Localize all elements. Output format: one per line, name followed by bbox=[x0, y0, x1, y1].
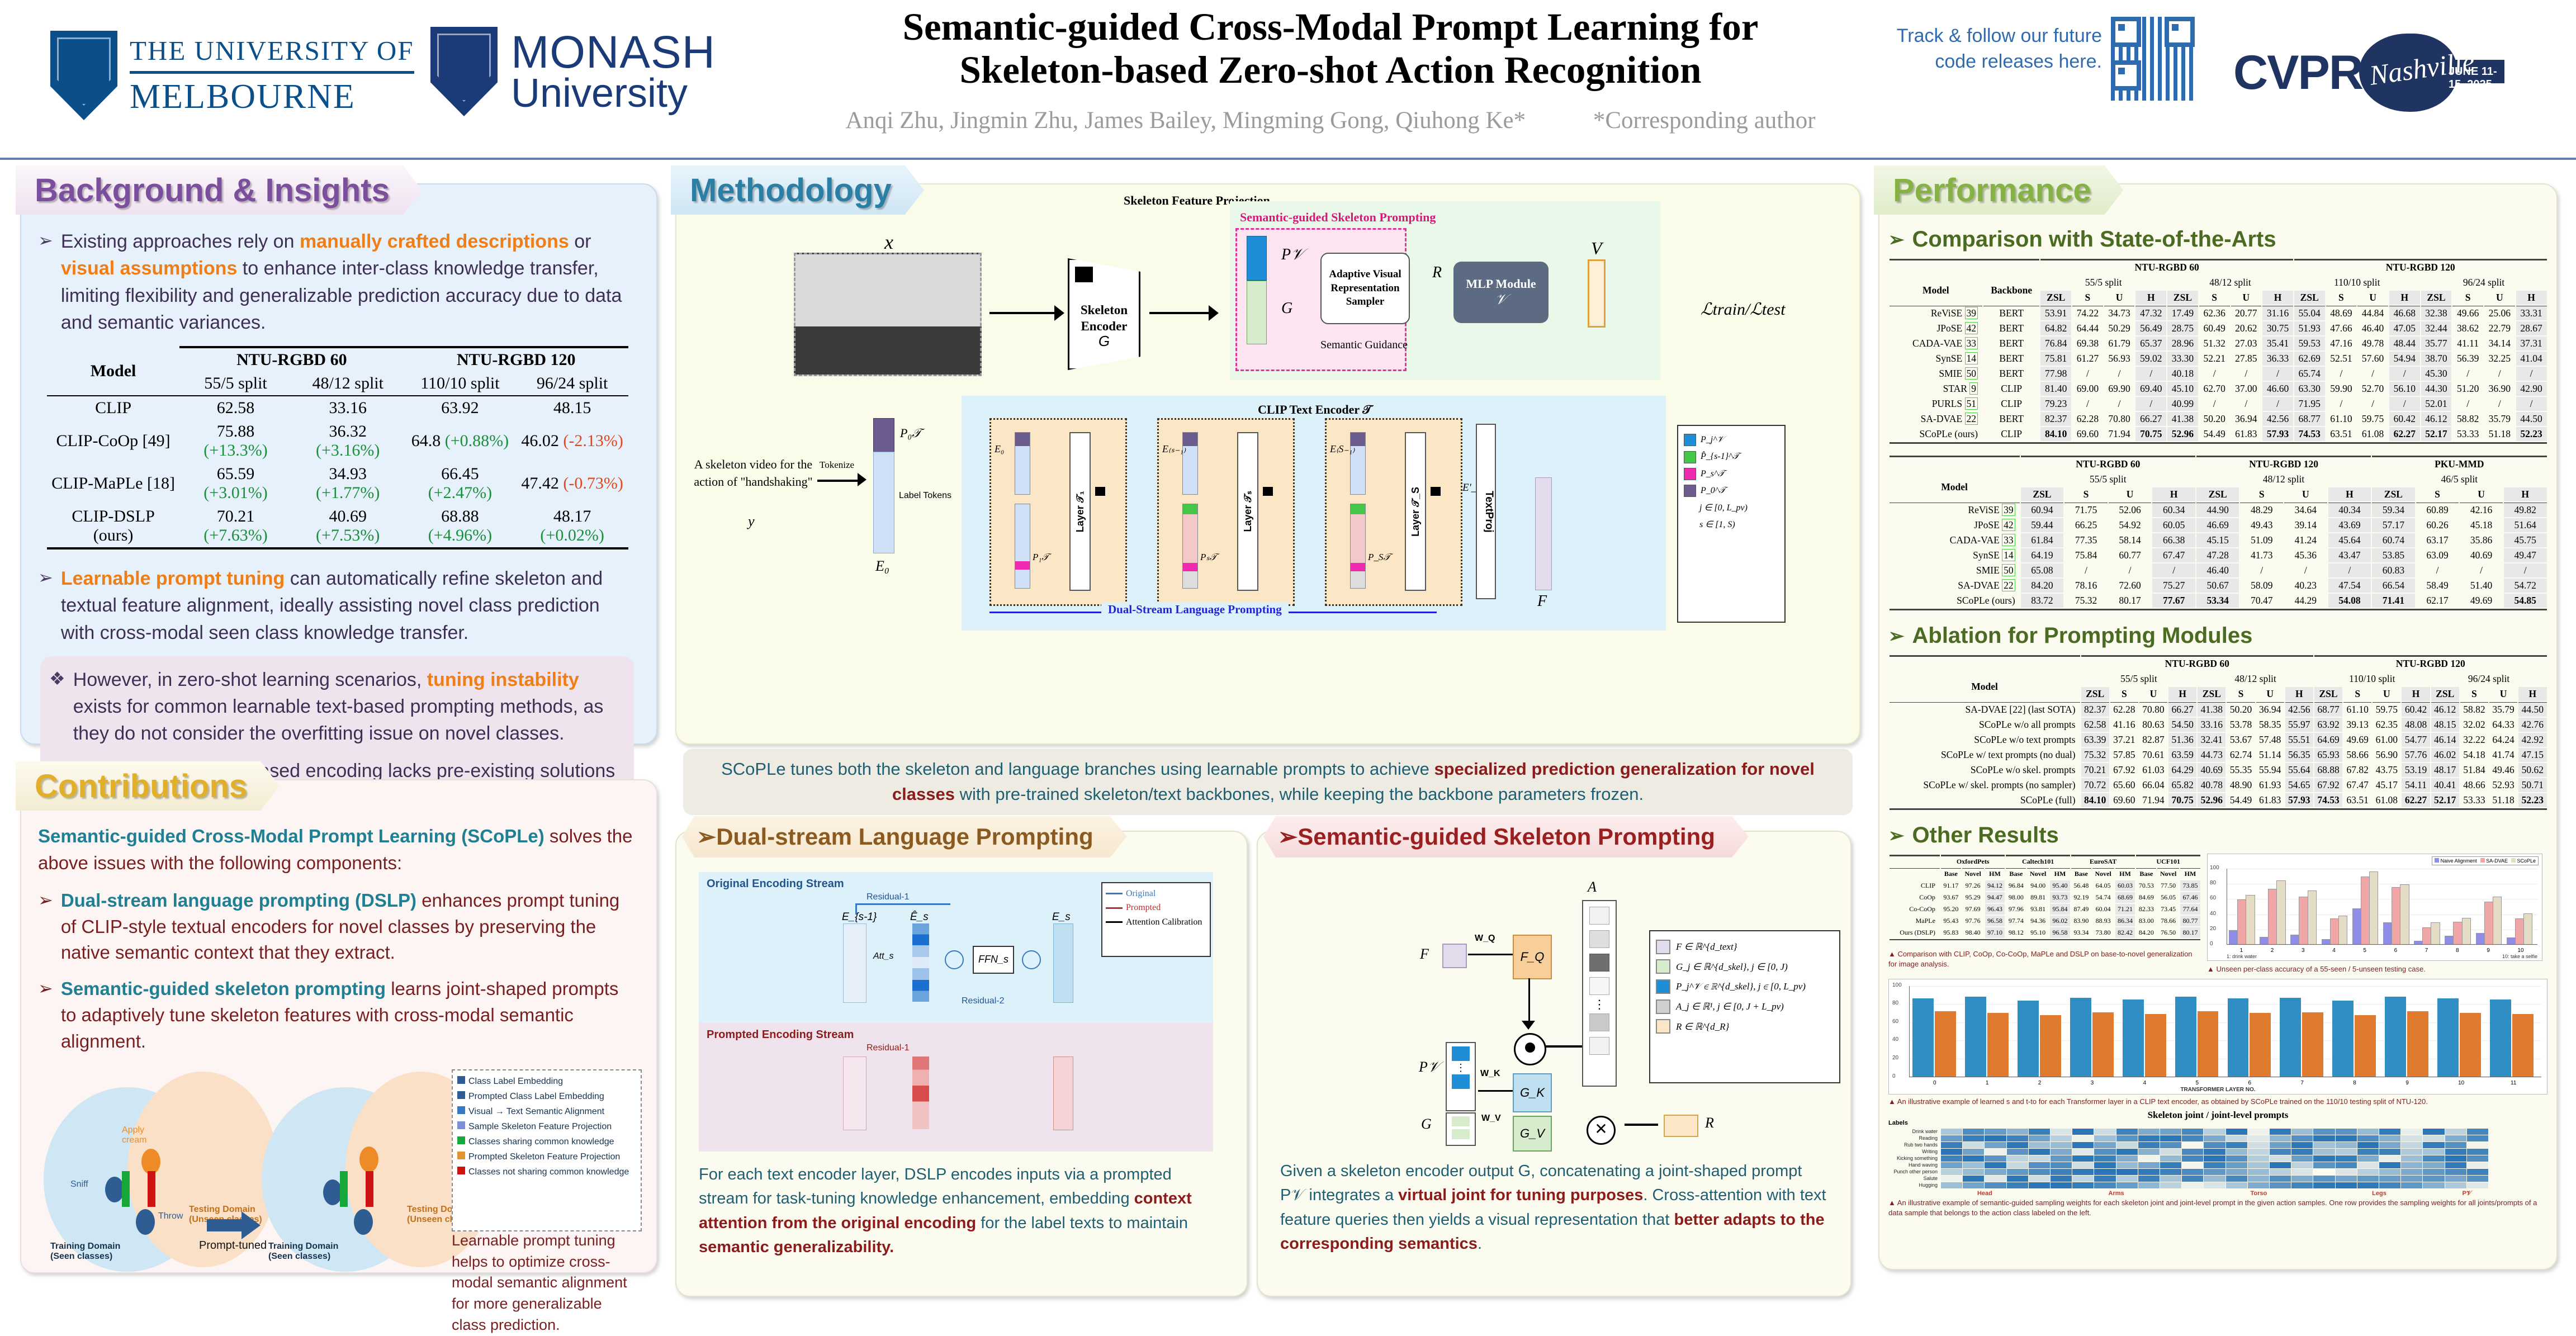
table-row: SMIE 5065.08///46.40///60.83/// bbox=[1890, 563, 2547, 577]
legend-item: Attention Calibration bbox=[1106, 915, 1206, 930]
label-tokens bbox=[873, 452, 894, 553]
table-cell: 34.73 bbox=[2104, 306, 2135, 320]
author-list: Anqi Zhu, Jingmin Zhu, James Bailey, Min… bbox=[771, 107, 1890, 134]
citation-ref: 33 bbox=[1965, 337, 1978, 349]
table-cell: 52.70 bbox=[2357, 382, 2388, 396]
th-model: Model bbox=[47, 347, 179, 396]
table-group-row: NTU-RGBD 60NTU-RGBD 120PKU-MMD bbox=[1890, 456, 2547, 471]
table-cell: 66.54 bbox=[2372, 579, 2415, 593]
table-cell: 75.32 bbox=[2064, 594, 2108, 608]
gridline bbox=[2227, 945, 2537, 945]
wv-label: W_V bbox=[1481, 1114, 1501, 1124]
heatmap-group-label: Head bbox=[1941, 1190, 2029, 1197]
heatmap-cell bbox=[2445, 1176, 2466, 1182]
table-cell: 64.29 bbox=[2168, 763, 2196, 777]
perf-table: NTU-RGBD 60NTU-RGBD 120PKU-MMDModel55/5 … bbox=[1888, 454, 2548, 615]
table-cell: 82.37 bbox=[2040, 412, 2071, 426]
table-cell: 58.35 bbox=[2256, 718, 2284, 732]
heatmap-cell bbox=[2248, 1149, 2269, 1155]
row-model: Ours (DSLP) bbox=[1890, 927, 1940, 938]
legend-arrow-icon bbox=[1106, 921, 1123, 923]
table-cell: 75.84 bbox=[2064, 548, 2108, 562]
table-cell: 83.90 bbox=[2071, 916, 2091, 926]
heatmap-cell bbox=[2029, 1182, 2050, 1188]
heatmap-row-label: Rub two hands bbox=[1888, 1142, 1938, 1148]
layer-in-vector bbox=[1350, 432, 1366, 495]
table-cell: 49.47 bbox=[2504, 548, 2547, 562]
table-cell: 41.74 bbox=[2489, 748, 2517, 762]
table-cell: 77.50 bbox=[2157, 880, 2179, 891]
table-cell: 61.83 bbox=[2256, 793, 2284, 807]
section-comparison: ➢ Comparison with State-of-the-Arts bbox=[1888, 227, 2556, 252]
other-bar-chart-wrap: 02040608010012345678910 Naive Alignment … bbox=[2207, 854, 2542, 974]
row-backbone: CLIP bbox=[1983, 397, 2039, 411]
b1-hl1: manually crafted descriptions bbox=[300, 231, 569, 252]
th-group1: NTU-RGBD 60 bbox=[179, 347, 404, 372]
heatmap-cell bbox=[2094, 1135, 2115, 1141]
prompted-stream-label: Prompted Encoding Stream bbox=[707, 1029, 854, 1041]
melbourne-rule bbox=[130, 71, 414, 74]
metric-header: ZSL bbox=[2021, 487, 2064, 501]
heatmap-cell bbox=[2467, 1155, 2488, 1162]
row-model: CLIP-DSLP (ours) bbox=[47, 505, 179, 548]
qr-caption-line2: code releases here. bbox=[1867, 49, 2102, 75]
heatmap-cell bbox=[2226, 1155, 2247, 1162]
metric-header: H bbox=[2504, 487, 2547, 501]
heatmap-cell bbox=[2072, 1162, 2094, 1168]
bar bbox=[2515, 918, 2524, 945]
table-cell: 97.96 bbox=[2006, 904, 2026, 915]
table-cell: 40.69 bbox=[2460, 548, 2503, 562]
metric-header: S bbox=[2460, 687, 2488, 701]
x-tick-label: 6 bbox=[2394, 947, 2398, 954]
chevron-right-icon: ➢ bbox=[38, 228, 53, 336]
table-cell: 60.49 bbox=[2199, 321, 2230, 335]
logo-monash-university: MONASH University bbox=[430, 27, 716, 116]
table-cell: 69.40 bbox=[2135, 382, 2166, 396]
heatmap-cell bbox=[2313, 1149, 2334, 1155]
panel-dslp: ➢Dual-stream Language Prompting Original… bbox=[675, 831, 1248, 1297]
metric-header: Novel bbox=[1962, 868, 1984, 879]
table-cell: 78.16 bbox=[2064, 579, 2108, 593]
col-backbone: Backbone bbox=[1983, 276, 2039, 305]
heatmap-cell bbox=[2029, 1162, 2050, 1168]
heatmap-cell bbox=[2379, 1129, 2400, 1135]
heatmap-cell bbox=[2291, 1162, 2313, 1168]
training-domain-label-1: Training Domain (Seen classes) bbox=[50, 1242, 120, 1262]
contribution-item-dslp: ➢ Dual-stream language prompting (DSLP) … bbox=[38, 888, 637, 967]
group-header: NTU-RGBD 120 bbox=[2196, 456, 2371, 471]
x-tick-label: 4 bbox=[2332, 947, 2336, 954]
heatmap-cell bbox=[2116, 1176, 2138, 1182]
table-cell: 77.67 bbox=[2152, 594, 2195, 608]
table-cell: 62.27 bbox=[2402, 793, 2430, 807]
table-cell: 65.93 bbox=[2314, 748, 2342, 762]
table-cell: 35.79 bbox=[2489, 702, 2517, 717]
heatmap-cell bbox=[2138, 1155, 2160, 1162]
legend-swatch bbox=[1656, 959, 1670, 974]
table-cell: 84.20 bbox=[2021, 579, 2064, 593]
lock-icon bbox=[1095, 487, 1105, 496]
legend-label: P_s^𝒯 bbox=[1701, 466, 1725, 482]
add-node-2 bbox=[1022, 950, 1041, 969]
b2-hl: Learnable prompt tuning bbox=[61, 568, 285, 589]
legend-item: Class Label Embedding bbox=[457, 1075, 636, 1088]
table-cell: 53.34 bbox=[2196, 594, 2239, 608]
table-cell: 67.82 bbox=[2343, 763, 2371, 777]
table-cell: 61.27 bbox=[2072, 352, 2103, 366]
dslp-caption: For each text encoder layer, DSLP encode… bbox=[699, 1163, 1213, 1260]
table-cell: 44.29 bbox=[2284, 594, 2327, 608]
banner-label-background: Background & Insights bbox=[35, 172, 390, 209]
table-bottom-rule bbox=[1890, 808, 2547, 814]
table-cell: 34.64 bbox=[2284, 503, 2327, 517]
citation-ref: 39 bbox=[1965, 307, 1978, 319]
bar bbox=[1912, 998, 1934, 1077]
table-cell: / bbox=[2135, 397, 2166, 411]
g-token-block bbox=[1247, 281, 1267, 344]
table-cell: 82.33 bbox=[2136, 904, 2156, 915]
table-cell: 59.53 bbox=[2294, 337, 2325, 350]
table-bottom-rule bbox=[1890, 939, 2200, 942]
legend-swatch bbox=[457, 1167, 465, 1174]
bar bbox=[2246, 895, 2255, 945]
heatmap-cell bbox=[2182, 1155, 2203, 1162]
table-cell: 66.45 (+2.47%) bbox=[404, 462, 517, 505]
table-cell: 46.69 bbox=[2196, 518, 2239, 532]
skeleton-encoder-symbol: G bbox=[1069, 333, 1139, 350]
table-row: Co-CoOp95.2097.6996.4397.9693.8195.8487.… bbox=[1890, 904, 2200, 915]
legend-label: Class Label Embedding bbox=[468, 1075, 563, 1088]
legend-label: s ∈ [1, S) bbox=[1699, 517, 1735, 533]
legend-arrow-icon bbox=[1106, 893, 1123, 894]
table-cell: 68.77 bbox=[2314, 702, 2342, 717]
b3-hl: tuning instability bbox=[427, 669, 579, 690]
table-cell: 61.08 bbox=[2373, 793, 2400, 807]
table-cell: 33.30 bbox=[2167, 352, 2198, 366]
heatmap-cell bbox=[2270, 1169, 2291, 1175]
table-cell: 20.62 bbox=[2231, 321, 2262, 335]
bar bbox=[2407, 1011, 2428, 1077]
layer-prompt-label: Pₛ𝒯 bbox=[1200, 552, 1217, 563]
contributions-intro: Semantic-guided Cross-Modal Prompt Learn… bbox=[38, 823, 637, 877]
group-header: OxfordPets bbox=[1941, 855, 2005, 867]
table-cell: / bbox=[2357, 397, 2388, 411]
legend-label: P_0^𝒯 bbox=[1701, 482, 1726, 499]
table-cell: 52.23 bbox=[2518, 793, 2546, 807]
table-cell: 64.33 bbox=[2489, 718, 2517, 732]
section-other-label: Other Results bbox=[1912, 823, 2059, 848]
qr-block[interactable]: Track & follow our future code releases … bbox=[1867, 17, 2195, 101]
table-cell: 94.12 bbox=[1985, 880, 2005, 891]
triangle-icon: ▲ bbox=[1888, 1097, 1896, 1106]
metric-header: S bbox=[2199, 291, 2230, 305]
table-cell: 96.43 bbox=[1985, 904, 2005, 915]
table-cell: 62.58 bbox=[179, 396, 292, 420]
table-cell: 47.15 bbox=[2518, 748, 2546, 762]
prompted-mid-vector bbox=[912, 1057, 929, 1129]
bar bbox=[2476, 933, 2485, 945]
row-backbone: CLIP bbox=[1983, 427, 2039, 441]
arrow-head-icon bbox=[858, 473, 866, 486]
layer-prompt-label: P₁𝒯 bbox=[1033, 552, 1049, 563]
table-cell: 35.41 bbox=[2262, 337, 2293, 350]
heatmap-cell bbox=[2423, 1142, 2444, 1148]
split-header: 55/5 split bbox=[2040, 276, 2166, 290]
metric-header: Novel bbox=[2027, 868, 2049, 879]
table-cell: 62.27 bbox=[2389, 427, 2420, 441]
table-cell: 71.21 bbox=[2115, 904, 2135, 915]
legend-item: Prompted bbox=[1106, 901, 1206, 915]
table-cell: 46.40 bbox=[2357, 321, 2388, 335]
table-cell: 97.26 bbox=[1962, 880, 1984, 891]
heatmap-cell bbox=[2029, 1142, 2050, 1148]
table-cell: 67.46 bbox=[2180, 892, 2200, 903]
table-cell: 74.53 bbox=[2314, 793, 2342, 807]
table-row: CLIP-DSLP (ours)70.21 (+7.63%)40.69 (+7.… bbox=[47, 505, 628, 548]
table-cell: 76.84 bbox=[2040, 337, 2071, 350]
table-cell: 67.47 bbox=[2343, 778, 2371, 792]
heatmap-cell bbox=[2138, 1135, 2160, 1141]
table-cell: 60.05 bbox=[2152, 518, 2195, 532]
table-cell: 65.74 bbox=[2294, 367, 2325, 381]
table-cell: 63.92 bbox=[2314, 718, 2342, 732]
table-cell: 51.18 bbox=[2484, 427, 2515, 441]
table-cell: 48.08 bbox=[2402, 718, 2430, 732]
row-model: PURLS 51 bbox=[1890, 397, 1983, 411]
table-cell: 46.02 bbox=[2431, 748, 2459, 762]
table-row: SA-DVAE [22] (last SOTA)82.3762.2870.806… bbox=[1890, 702, 2547, 717]
legend-swatch bbox=[2435, 858, 2439, 863]
legend-item: P̂_{s-1}^𝒯 bbox=[1684, 448, 1779, 465]
arrow-head-icon bbox=[1209, 305, 1219, 321]
table-cell: 36.94 bbox=[2256, 702, 2284, 717]
y-tick-label: 100 bbox=[2210, 865, 2219, 871]
table-cell: 51.18 bbox=[2489, 793, 2517, 807]
table-cell: 92.19 bbox=[2071, 892, 2091, 903]
heatmap-cell bbox=[2051, 1169, 2072, 1175]
table-row: ReViSE 39BERT53.9174.2234.7347.3217.4962… bbox=[1890, 306, 2547, 320]
table-cell: 42.56 bbox=[2285, 702, 2313, 717]
table-cell: 48.29 bbox=[2240, 503, 2283, 517]
table-cell: 59.44 bbox=[2021, 518, 2064, 532]
bullet-item: ➢ Existing approaches rely on manually c… bbox=[38, 228, 637, 336]
bar bbox=[2484, 902, 2493, 945]
heatmap-cell bbox=[2336, 1176, 2357, 1182]
table-cell: 67.47 bbox=[2152, 548, 2195, 562]
background-bullets: ➢ Existing approaches rely on manually c… bbox=[21, 184, 656, 846]
heatmap-cell bbox=[2182, 1176, 2203, 1182]
heatmap-row-label: Hugging bbox=[1888, 1182, 1938, 1188]
y-axis bbox=[1909, 986, 1910, 1077]
heatmap-cell bbox=[2160, 1149, 2181, 1155]
row-model: SynSE 14 bbox=[1890, 352, 1983, 366]
p0t-token bbox=[873, 418, 894, 453]
table-cell: 56.93 bbox=[2104, 352, 2135, 366]
heatmap-cell bbox=[2270, 1176, 2291, 1182]
heatmap-cell bbox=[2204, 1169, 2225, 1175]
table-cell: 32.44 bbox=[2421, 321, 2452, 335]
heatmap-row-label: Hand waving bbox=[1888, 1162, 1938, 1168]
heatmap-cell bbox=[2423, 1135, 2444, 1141]
legend-swatch bbox=[2511, 858, 2516, 863]
section-ablation: ➢ Ablation for Prompting Modules bbox=[1888, 623, 2556, 648]
table-cell: 45.10 bbox=[2167, 382, 2198, 396]
table-cell: 57.93 bbox=[2262, 427, 2293, 441]
table-row: PURLS 51CLIP79.23///40.99///71.95///52.0… bbox=[1890, 397, 2547, 411]
heatmap-cell bbox=[2160, 1155, 2181, 1162]
heatmap-cell bbox=[2029, 1169, 2050, 1175]
table-cell: 40.99 bbox=[2167, 397, 2198, 411]
b1-hl2: visual assumptions bbox=[61, 258, 238, 279]
heatmap-cell bbox=[2138, 1149, 2160, 1155]
table-cell: / bbox=[2460, 563, 2503, 577]
table-cell: 52.23 bbox=[2516, 427, 2547, 441]
contribution-item-sgsp: ➢ Semantic-guided skeleton prompting lea… bbox=[38, 976, 637, 1055]
banner-label-performance: Performance bbox=[1893, 172, 2091, 209]
heatmap-cell bbox=[2357, 1162, 2379, 1168]
table-cell: 39.13 bbox=[2343, 718, 2371, 732]
metric-header: H bbox=[2518, 687, 2546, 701]
table-cell: 95.40 bbox=[2050, 880, 2070, 891]
row-model: SCoPLe w/ skel. prompts (no sampler) bbox=[1890, 778, 2080, 792]
row-backbone: BERT bbox=[1983, 367, 2039, 381]
table-cell: 36.90 bbox=[2484, 382, 2515, 396]
banner-label-contributions: Contributions bbox=[35, 768, 247, 805]
table-cell: 66.04 bbox=[2139, 778, 2167, 792]
table-cell: 37.21 bbox=[2110, 733, 2138, 747]
legend-swatch bbox=[1684, 468, 1696, 480]
diamond-bullet-icon: ❖ bbox=[49, 666, 65, 747]
table-cell: 57.76 bbox=[2402, 748, 2430, 762]
table-cell: 28.67 bbox=[2516, 321, 2547, 335]
citation-ref: 14 bbox=[2002, 549, 2015, 561]
legend-label: A_j ∈ ℝ¹, j ∈ [0, J + L_pv) bbox=[1676, 997, 1784, 1017]
heatmap-cell bbox=[1941, 1182, 1962, 1188]
table-cell: 64.19 bbox=[2021, 548, 2064, 562]
table-cell: 50.20 bbox=[2199, 412, 2230, 426]
metric-header: HM bbox=[1985, 868, 2005, 879]
heatmap-cell bbox=[2160, 1169, 2181, 1175]
table-cell: 43.47 bbox=[2328, 548, 2371, 562]
qr-code-icon[interactable] bbox=[2111, 17, 2195, 101]
textproj-box: TextProj bbox=[1476, 424, 1496, 599]
table-cell: 44.30 bbox=[2421, 382, 2452, 396]
heatmap-cell bbox=[2401, 1149, 2422, 1155]
table-cell: 60.94 bbox=[2021, 503, 2064, 517]
citation-ref: 14 bbox=[1965, 352, 1978, 364]
class-label-embedding-throw bbox=[136, 1209, 155, 1235]
table-cell: 93.81 bbox=[2027, 904, 2049, 915]
y-label: y bbox=[748, 513, 755, 530]
heatmap-cell bbox=[2160, 1182, 2181, 1188]
fq-box: F_Q bbox=[1513, 935, 1552, 979]
x-tick-label: 7 bbox=[2425, 947, 2428, 954]
table-cell: / bbox=[2389, 397, 2420, 411]
row-model: SA-DVAE [22] (last SOTA) bbox=[1890, 702, 2080, 717]
bar bbox=[2250, 1013, 2271, 1077]
heatmap-cell bbox=[2423, 1162, 2444, 1168]
label-tokens-label: Label Tokens bbox=[899, 491, 951, 501]
row-backbone: BERT bbox=[1983, 412, 2039, 426]
layer-box: Layer 𝒯_S bbox=[1405, 432, 1426, 591]
qr-caption: Track & follow our future code releases … bbox=[1867, 17, 2102, 75]
bar bbox=[2175, 997, 2196, 1077]
table-cell: 88.93 bbox=[2092, 916, 2114, 926]
split-header: 110/10 split bbox=[2294, 276, 2420, 290]
table-cell: 70.21 (+7.63%) bbox=[179, 505, 292, 548]
prompted-in-vector bbox=[843, 1057, 866, 1130]
ffn-box: FFN_s bbox=[973, 946, 1014, 974]
mlp-symbol: 𝒱 bbox=[1495, 291, 1507, 309]
heatmap-cell bbox=[1963, 1169, 1984, 1175]
table-cell: 65.08 bbox=[2021, 563, 2064, 577]
row-model: SynSE 14 bbox=[1890, 548, 2020, 562]
table-cell: 56.35 bbox=[2285, 748, 2313, 762]
performance-table-sota: NTU-RGBD 60NTU-RGBD 120ModelBackbone55/5… bbox=[1879, 258, 2556, 449]
metric-header: S bbox=[2227, 687, 2255, 701]
table-cell: 57.17 bbox=[2372, 518, 2415, 532]
table-cell: 47.05 bbox=[2389, 321, 2420, 335]
arrow-line bbox=[1625, 1124, 1658, 1126]
heatmap-cell bbox=[2029, 1129, 2050, 1135]
table-split-0: 55/5 split bbox=[179, 372, 292, 396]
contributions-figure: Sniff Throw Apply cream Training Domain … bbox=[38, 1065, 637, 1311]
legend-label: P_j^𝒱 ∈ ℝ^{d_skel}, j ∈ [0, L_pv) bbox=[1676, 977, 1806, 997]
split-header: 55/5 split bbox=[2021, 472, 2195, 486]
table-cell: 54.94 bbox=[2389, 352, 2420, 366]
group-header: NTU-RGBD 120 bbox=[2294, 259, 2547, 274]
table-cell: 52.93 bbox=[2489, 778, 2517, 792]
table-cell: 77.98 bbox=[2040, 367, 2071, 381]
heatmap-cell bbox=[2051, 1176, 2072, 1182]
table-cell: 70.21 bbox=[2081, 763, 2109, 777]
metric-header: ZSL bbox=[2431, 687, 2459, 701]
table-cell: 57.85 bbox=[2110, 748, 2138, 762]
table-row: SA-DVAE 2284.2078.1672.6075.2750.6758.09… bbox=[1890, 579, 2547, 593]
table-cell: 30.75 bbox=[2262, 321, 2293, 335]
citation-ref: 50 bbox=[2002, 564, 2015, 576]
table-cell: 51.84 bbox=[2460, 763, 2488, 777]
methodology-summary: SCoPLe tunes both the skeleton and langu… bbox=[683, 749, 1853, 815]
table-cell: 53.67 bbox=[2227, 733, 2255, 747]
table-cell: 56.39 bbox=[2452, 352, 2483, 366]
table-cell: 56.05 bbox=[2157, 892, 2179, 903]
other-results-row1: OxfordPetsCaltech101EuroSATUCF101BaseNov… bbox=[1879, 854, 2556, 974]
heatmap-cell bbox=[2336, 1169, 2357, 1175]
gridline bbox=[2227, 884, 2537, 884]
heatmap-group-label: Torso bbox=[2204, 1190, 2313, 1197]
table-cell: 47.42 (-0.73%) bbox=[516, 462, 628, 505]
table-row: SCoPLe w/ text prompts (no dual)75.3257.… bbox=[1890, 748, 2547, 762]
heatmap-cell bbox=[2401, 1129, 2422, 1135]
gv-box: G_V bbox=[1513, 1116, 1552, 1152]
heatmap-cell bbox=[2182, 1129, 2203, 1135]
table-cell: 83.00 bbox=[2136, 916, 2156, 926]
table-cell: 71.75 bbox=[2064, 503, 2108, 517]
class-label-embedding-throw-2 bbox=[354, 1209, 373, 1235]
table-cell: 79.23 bbox=[2040, 397, 2071, 411]
bar bbox=[2512, 1014, 2534, 1077]
table-cell: / bbox=[2135, 367, 2166, 381]
row-model: ReViSE 39 bbox=[1890, 503, 2020, 517]
header-divider bbox=[0, 158, 2576, 160]
arrow-line bbox=[989, 312, 1057, 314]
table-cell: 41.73 bbox=[2240, 548, 2283, 562]
legend-item: Original bbox=[1106, 887, 1206, 901]
section-other: ➢ Other Results bbox=[1888, 823, 2556, 848]
legend-label: R ∈ ℝ^{d_R} bbox=[1676, 1017, 1729, 1037]
